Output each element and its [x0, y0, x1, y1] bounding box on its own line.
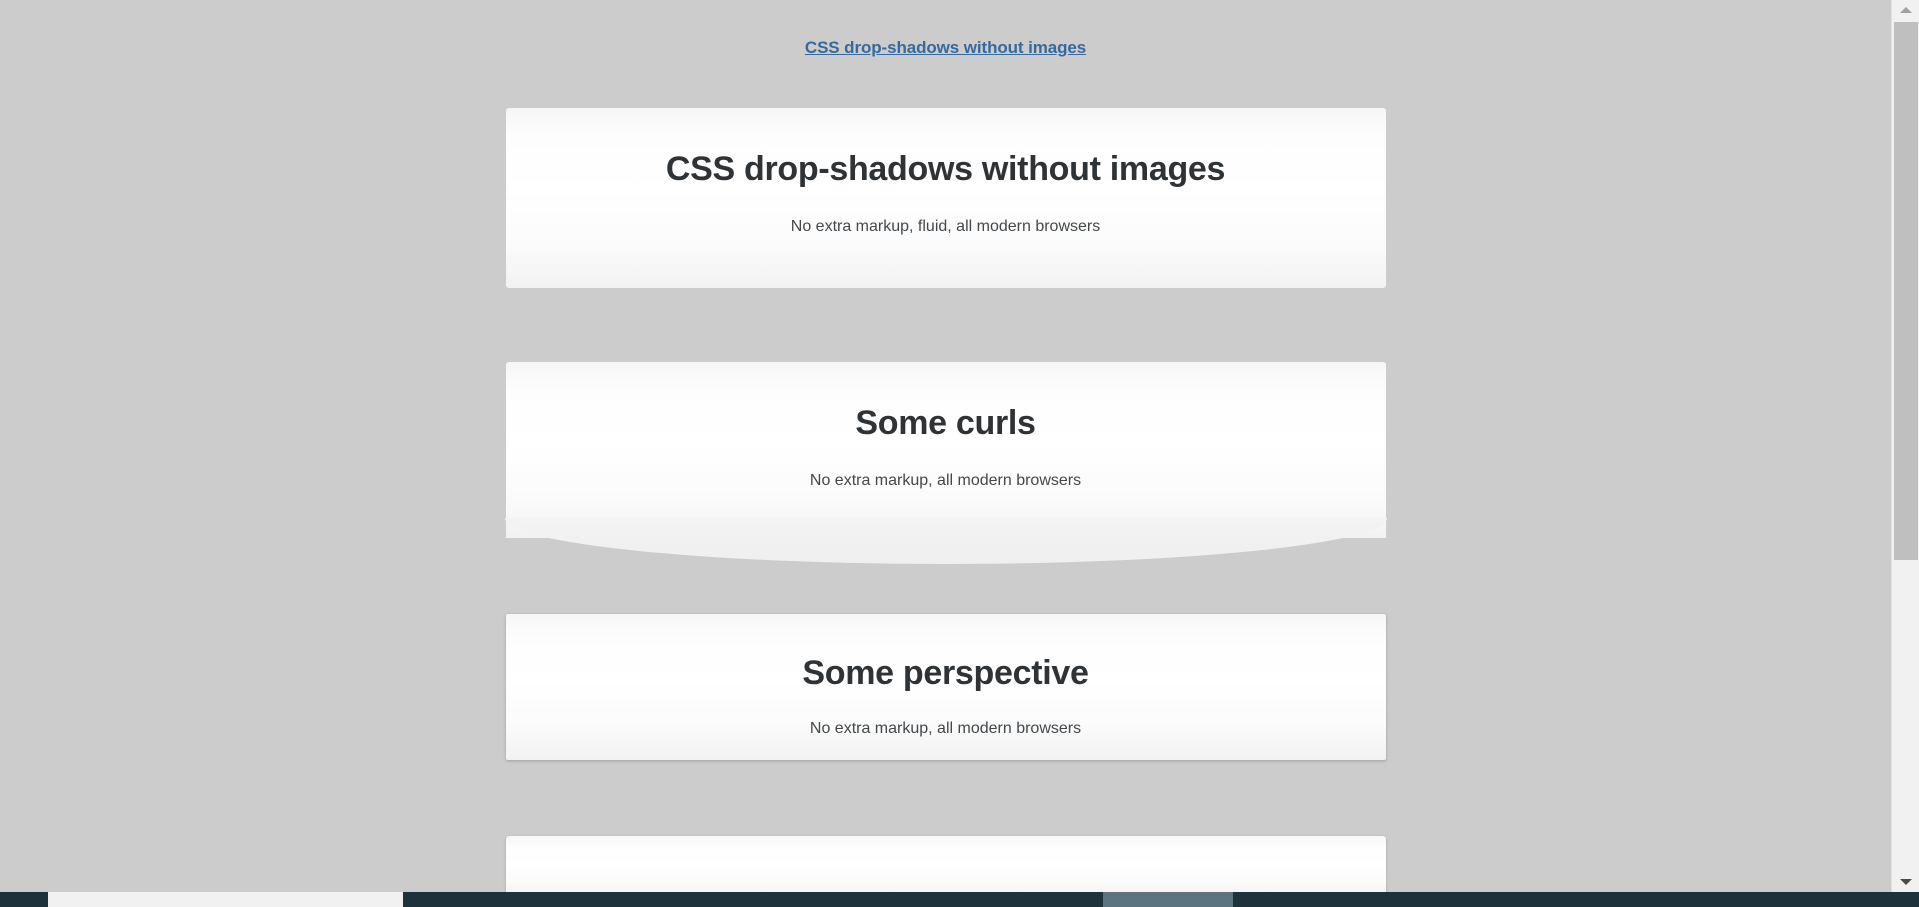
vertical-scrollbar[interactable]: [1891, 0, 1919, 892]
taskbar: [0, 892, 1919, 907]
taskbar-left-dark[interactable]: [0, 892, 48, 907]
taskbar-light-1[interactable]: [48, 892, 403, 907]
scroll-down-button[interactable]: [1892, 872, 1919, 892]
taskbar-right-dark[interactable]: [1233, 892, 1919, 907]
card-title: Some curls: [506, 404, 1386, 443]
browser-viewport: CSS drop-shadows without images CSS drop…: [0, 0, 1919, 907]
page-content: CSS drop-shadows without images CSS drop…: [0, 0, 1891, 892]
card-partial-next: [506, 836, 1386, 892]
chevron-up-icon: [1900, 7, 1912, 13]
scrollbar-thumb[interactable]: [1894, 22, 1918, 560]
card-curls: Some curls No extra markup, all modern b…: [506, 362, 1386, 538]
top-link-container: CSS drop-shadows without images: [0, 0, 1891, 58]
taskbar-active[interactable]: [403, 892, 1103, 907]
card-lifted-corners: CSS drop-shadows without images No extra…: [506, 108, 1386, 288]
page-source-link[interactable]: CSS drop-shadows without images: [805, 38, 1086, 57]
chevron-down-icon: [1900, 879, 1912, 885]
card-subtitle: No extra markup, all modern browsers: [506, 718, 1386, 740]
card-title: Some perspective: [506, 654, 1386, 693]
card-title: CSS drop-shadows without images: [506, 150, 1386, 189]
card-subtitle: No extra markup, fluid, all modern brows…: [506, 216, 1386, 238]
card-perspective: Some perspective No extra markup, all mo…: [506, 614, 1386, 760]
card-subtitle: No extra markup, all modern browsers: [506, 470, 1386, 492]
scroll-up-button[interactable]: [1892, 0, 1919, 20]
taskbar-mid[interactable]: [1103, 892, 1233, 907]
